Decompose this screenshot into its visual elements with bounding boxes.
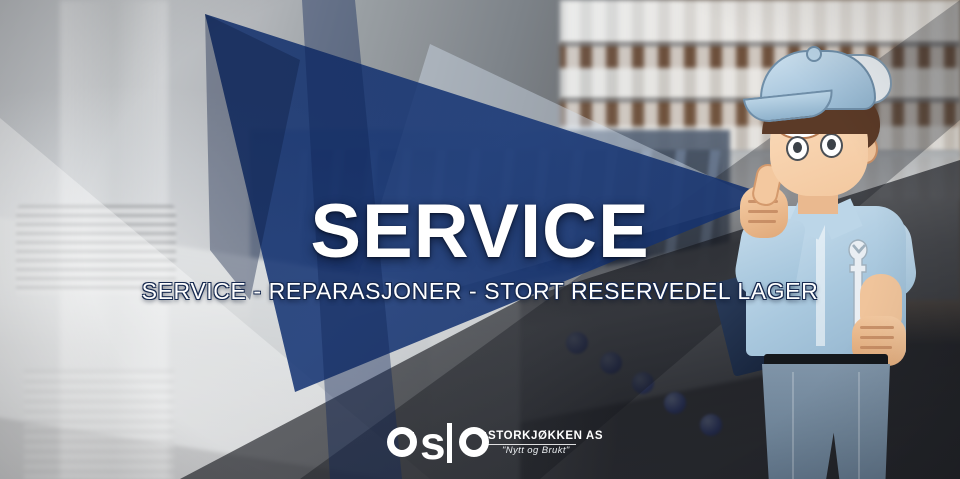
logo-o-glyph-first [384,424,420,462]
subtitle: SERVICE - REPARASJONER - STORT RESERVEDE… [0,278,960,305]
logo-tagline: "Nytt og Brukt" [502,445,603,456]
logo-text-block: STORKJØKKEN AS "Nytt og Brukt" [488,430,603,456]
company-logo[interactable]: s STORKJØKKEN AS "Nytt og Brukt" [384,418,584,470]
logo-company-name: STORKJØKKEN AS [488,430,603,442]
service-banner: SERVICE SERVICE - REPARASJONER - STORT R… [0,0,960,479]
logo-l-glyph [447,423,452,463]
page-title: SERVICE [0,194,960,270]
logo-wordmark: s [384,418,492,468]
logo-s-glyph: s [420,426,445,460]
logo-o-glyph-second [456,424,492,462]
